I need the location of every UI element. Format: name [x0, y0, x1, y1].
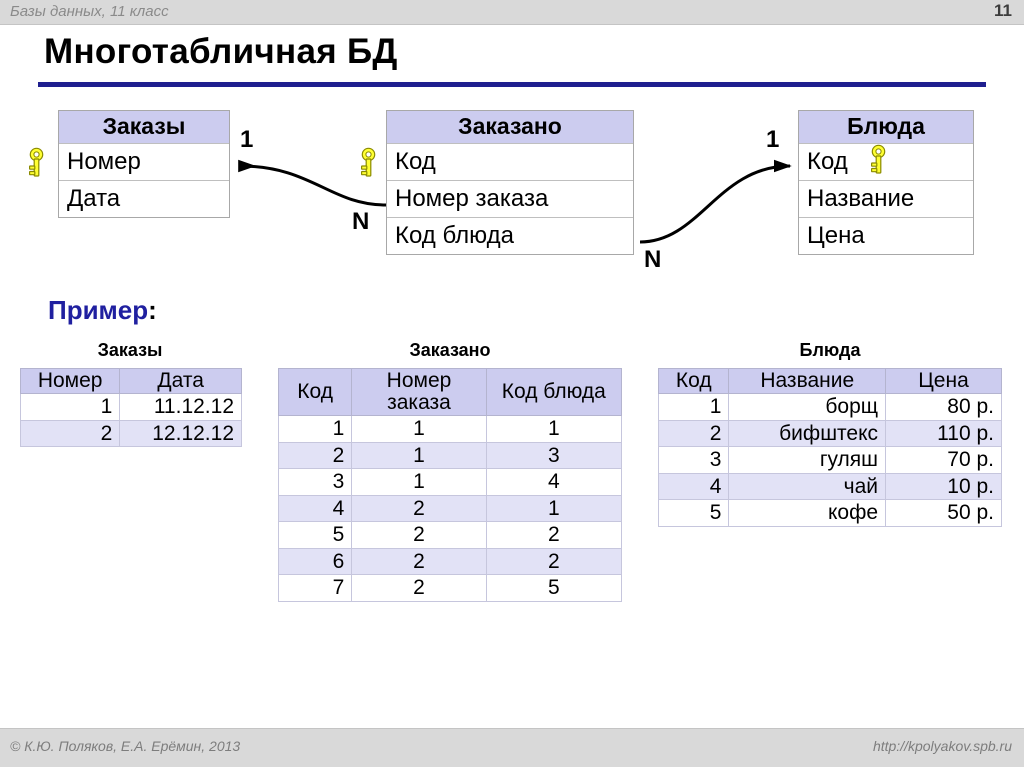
table-row: 7 2 5 — [279, 575, 622, 602]
footer-url[interactable]: http://kpolyakov.spb.ru — [873, 738, 1012, 754]
cell-code: 4 — [659, 473, 729, 500]
schema-table-ordered-title: Заказано — [387, 111, 633, 143]
table-row: 1 11.12.12 — [21, 394, 242, 421]
footer-copyright: © К.Ю. Поляков, Е.А. Ерёмин, 2013 — [10, 738, 240, 754]
cell-date: 12.12.12 — [120, 420, 242, 447]
schema-field-ordered-code: Код — [387, 143, 633, 180]
cell-name: гуляш — [729, 447, 886, 474]
cell-order-number: 1 — [352, 442, 486, 469]
data-table-orders-caption: Заказы — [20, 340, 240, 361]
table-header-row: Код Номер заказа Код блюда — [279, 369, 622, 416]
schema-field-ordered-dishcode: Код блюда — [387, 217, 633, 254]
table-row: 4 2 1 — [279, 495, 622, 522]
key-icon — [358, 147, 378, 179]
cell-order-number: 2 — [352, 548, 486, 575]
cell-code: 1 — [279, 416, 352, 443]
table-header-row: Код Название Цена — [659, 369, 1002, 394]
table-row: 2 12.12.12 — [21, 420, 242, 447]
schema-table-ordered: Заказано Код Номер заказа Код блюда — [386, 110, 634, 255]
cell-code: 5 — [659, 500, 729, 527]
course-label: Базы данных, 11 класс — [10, 3, 169, 20]
data-table-dishes-caption: Блюда — [658, 340, 1002, 361]
column-header-date: Дата — [120, 369, 242, 394]
cell-name: борщ — [729, 394, 886, 421]
cell-order-number: 2 — [352, 495, 486, 522]
schema-field-dishes-name: Название — [799, 180, 973, 217]
cell-price: 110 р. — [886, 420, 1002, 447]
table-row: 2 бифштекс 110 р. — [659, 420, 1002, 447]
table-row: 2 1 3 — [279, 442, 622, 469]
cardinality-one-dishes: 1 — [766, 126, 779, 154]
footer-bar: © К.Ю. Поляков, Е.А. Ерёмин, 2013 http:/… — [0, 728, 1024, 767]
table-row: 3 1 4 — [279, 469, 622, 496]
column-header-code: Код — [659, 369, 729, 394]
cell-price: 80 р. — [886, 394, 1002, 421]
cell-code: 2 — [659, 420, 729, 447]
column-header-dish-code: Код блюда — [486, 369, 621, 416]
cell-name: чай — [729, 473, 886, 500]
column-header-code: Код — [279, 369, 352, 416]
schema-table-orders: Заказы Номер Дата — [58, 110, 230, 218]
page-title: Многотабличная БД — [44, 32, 398, 72]
cell-number: 2 — [21, 420, 120, 447]
key-icon — [868, 144, 888, 176]
top-bar: Базы данных, 11 класс 11 — [0, 0, 1024, 25]
cell-code: 3 — [279, 469, 352, 496]
cell-dish-code: 3 — [486, 442, 621, 469]
cell-order-number: 1 — [352, 416, 486, 443]
cell-dish-code: 4 — [486, 469, 621, 496]
cell-order-number: 2 — [352, 575, 486, 602]
data-table-orders: Номер Дата 1 11.12.12 2 12.12.12 — [20, 368, 242, 447]
schema-field-orders-number: Номер — [59, 143, 229, 180]
cell-code: 6 — [279, 548, 352, 575]
column-header-code: Номер — [21, 369, 120, 394]
cell-code: 1 — [659, 394, 729, 421]
cardinality-many-ordered-orders: N — [352, 208, 369, 236]
example-heading: Пример: — [48, 295, 157, 326]
cell-order-number: 2 — [352, 522, 486, 549]
cell-code: 4 — [279, 495, 352, 522]
table-row: 6 2 2 — [279, 548, 622, 575]
cell-dish-code: 1 — [486, 416, 621, 443]
cell-price: 50 р. — [886, 500, 1002, 527]
schema-table-dishes: Блюда Код Название Цена — [798, 110, 974, 255]
cell-price: 70 р. — [886, 447, 1002, 474]
table-row: 1 борщ 80 р. — [659, 394, 1002, 421]
example-heading-colon: : — [148, 295, 157, 325]
column-header-name: Название — [729, 369, 886, 394]
cardinality-many-ordered-dishes: N — [644, 246, 661, 274]
cell-code: 2 — [279, 442, 352, 469]
cell-code: 7 — [279, 575, 352, 602]
data-table-ordered: Код Номер заказа Код блюда 1 1 1 2 1 3 3… — [278, 368, 622, 602]
column-header-price: Цена — [886, 369, 1002, 394]
cell-dish-code: 2 — [486, 522, 621, 549]
schema-field-ordered-ordernumber: Номер заказа — [387, 180, 633, 217]
data-table-ordered-caption: Заказано — [278, 340, 622, 361]
table-row: 3 гуляш 70 р. — [659, 447, 1002, 474]
page-number: 11 — [994, 1, 1012, 21]
cell-name: кофе — [729, 500, 886, 527]
schema-table-orders-title: Заказы — [59, 111, 229, 143]
example-heading-text: Пример — [48, 295, 148, 325]
cell-dish-code: 2 — [486, 548, 621, 575]
schema-table-dishes-title: Блюда — [799, 111, 973, 143]
cardinality-one-orders: 1 — [240, 126, 253, 154]
cell-name: бифштекс — [729, 420, 886, 447]
cell-price: 10 р. — [886, 473, 1002, 500]
column-header-order-number: Номер заказа — [352, 369, 486, 416]
schema-field-orders-date: Дата — [59, 180, 229, 217]
table-row: 5 кофе 50 р. — [659, 500, 1002, 527]
cell-number: 1 — [21, 394, 120, 421]
table-header-row: Номер Дата — [21, 369, 242, 394]
table-row: 5 2 2 — [279, 522, 622, 549]
cell-order-number: 1 — [352, 469, 486, 496]
table-row: 1 1 1 — [279, 416, 622, 443]
cell-dish-code: 1 — [486, 495, 621, 522]
cell-dish-code: 5 — [486, 575, 621, 602]
table-row: 4 чай 10 р. — [659, 473, 1002, 500]
data-table-dishes: Код Название Цена 1 борщ 80 р. 2 бифштек… — [658, 368, 1002, 527]
key-icon — [26, 147, 46, 179]
cell-date: 11.12.12 — [120, 394, 242, 421]
relation-line-ordered-to-dishes — [640, 166, 790, 242]
title-underline — [38, 82, 986, 87]
schema-field-dishes-price: Цена — [799, 217, 973, 254]
cell-code: 5 — [279, 522, 352, 549]
cell-code: 3 — [659, 447, 729, 474]
